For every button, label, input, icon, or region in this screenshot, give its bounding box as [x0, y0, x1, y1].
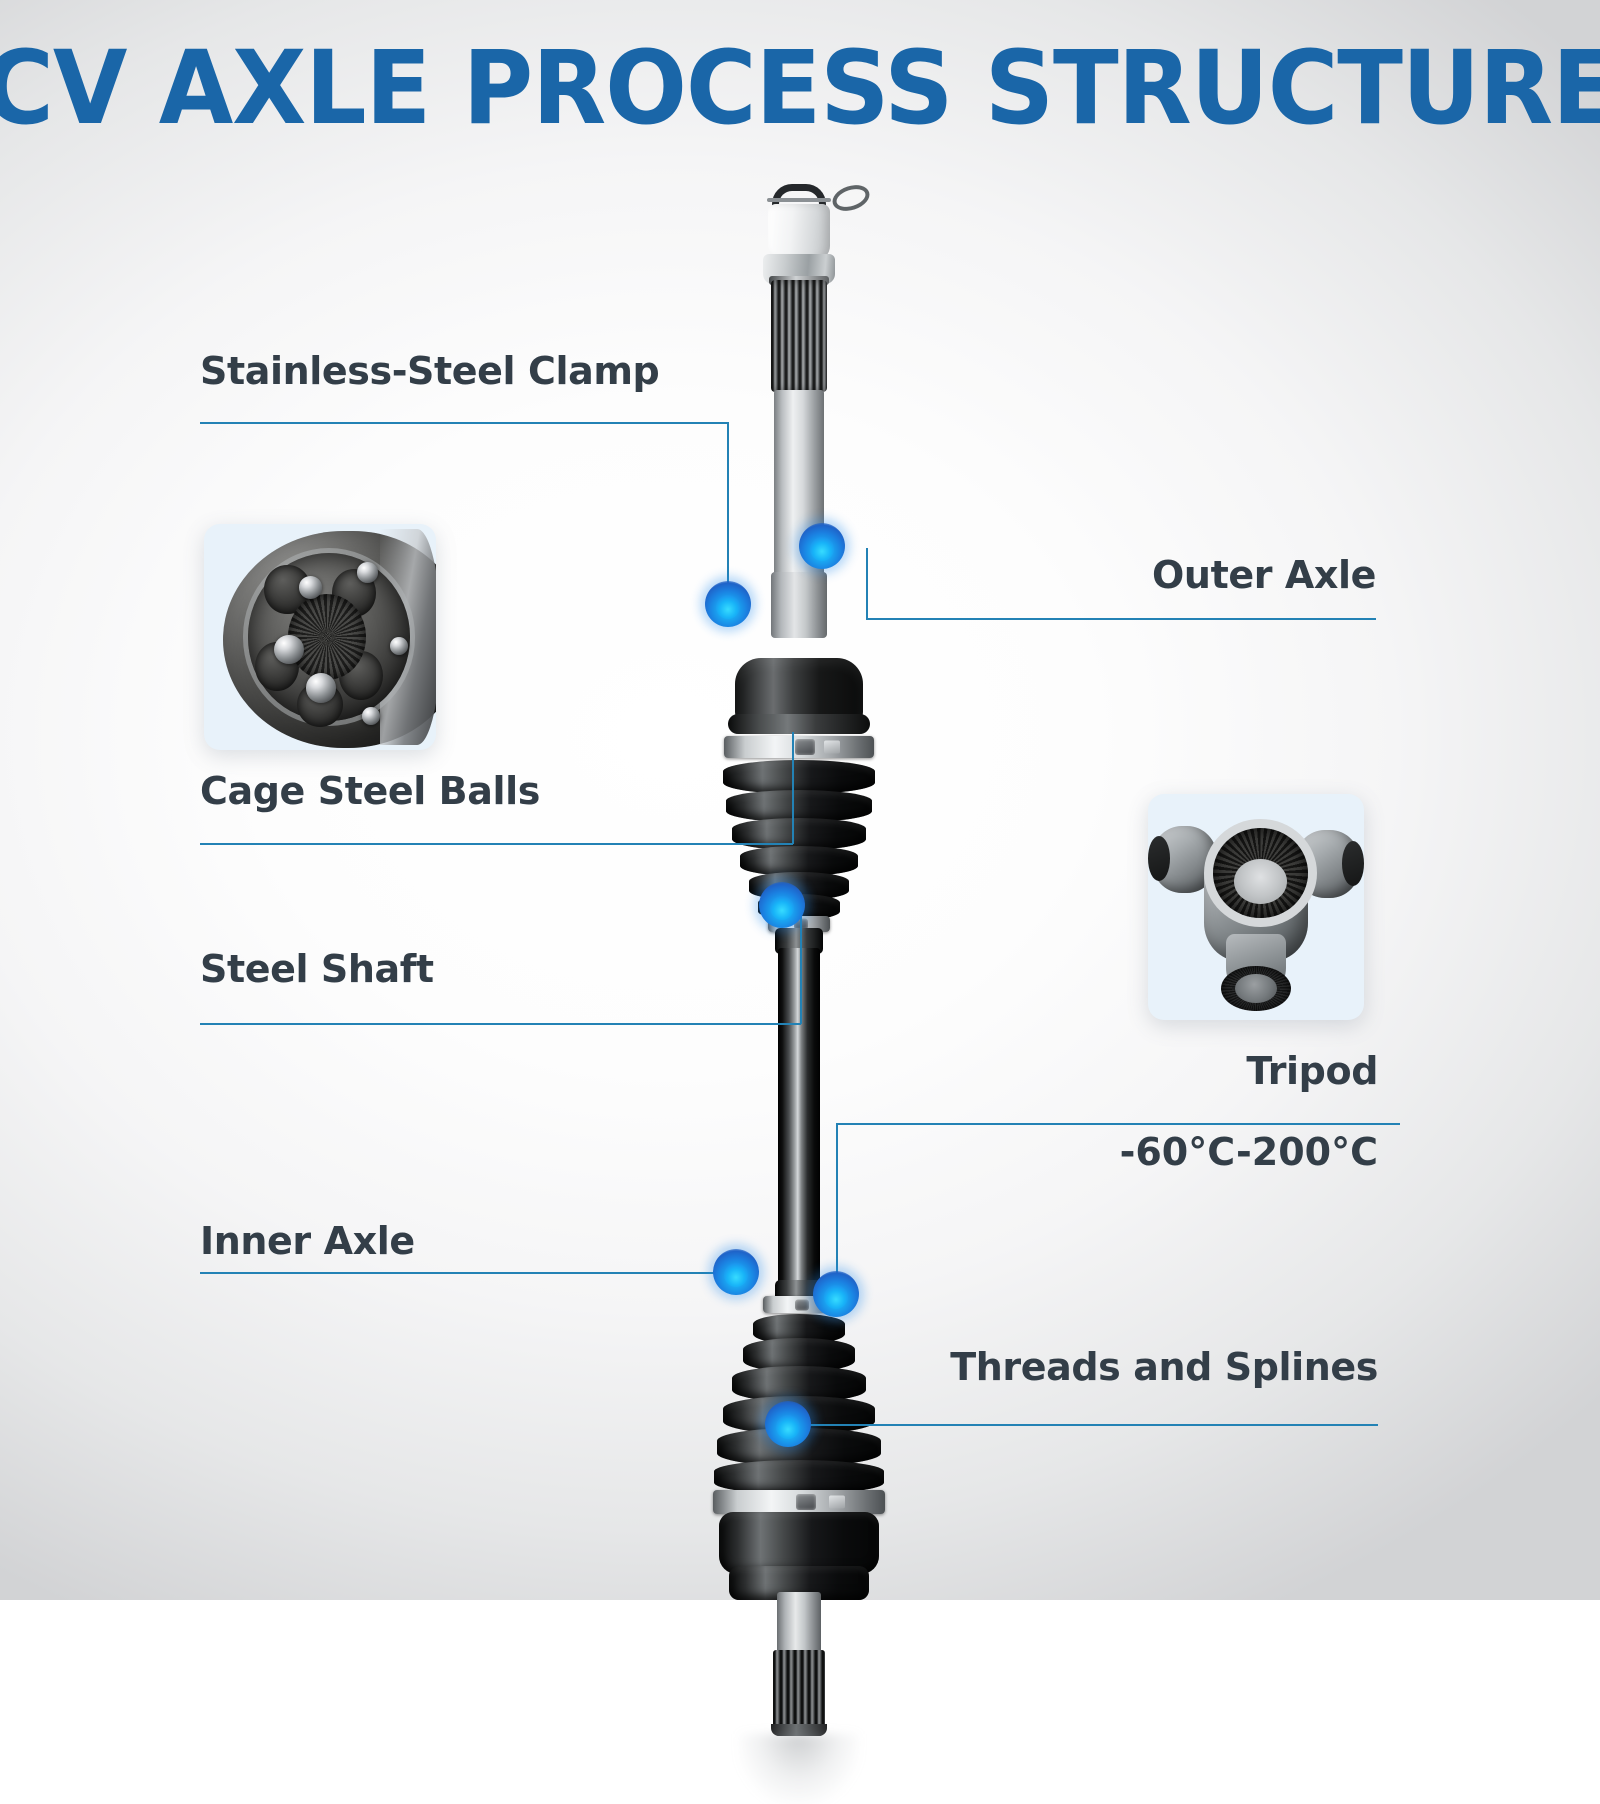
connector-line-inner-axle-h [200, 1272, 738, 1274]
page-title: CV AXLE PROCESS STRUCTURE [0, 30, 1600, 148]
connector-line-outer-axle-h [866, 618, 1376, 620]
connector-line-steel-shaft-h [200, 1023, 801, 1025]
steel-shaft-body [778, 948, 820, 1288]
connector-line-cage-steel-balls-v [792, 732, 794, 844]
cage-steel-ball [274, 635, 304, 664]
marker-stainless-steel-clamp[interactable] [705, 581, 751, 627]
cotter-pin-bar [767, 198, 831, 202]
infographic-canvas: CV AXLE PROCESS STRUCTURE [0, 0, 1600, 1600]
label-steel-shaft: Steel Shaft [200, 950, 434, 990]
tripod-roller-cap [1148, 836, 1170, 881]
clamp-buckle-icon [795, 1299, 809, 1310]
outer-splined-stub [771, 280, 827, 392]
connector-line-cage-steel-balls-h [200, 843, 793, 845]
tripod-roller-bottom [1221, 966, 1290, 1011]
connector-line-stainless-steel-clamp-v [727, 422, 729, 604]
tripod-roller-cap [1342, 841, 1364, 886]
clamp-buckle-icon [796, 1494, 816, 1510]
connector-line-tripod-v [836, 1123, 838, 1295]
label-tripod-temperature: -60°C-200°C [1120, 1130, 1378, 1174]
stainless-steel-clamp-inner-large [713, 1490, 885, 1514]
marker-tripod[interactable] [813, 1271, 859, 1317]
cage-splined-hub [288, 594, 367, 680]
label-outer-axle: Outer Axle [1152, 556, 1376, 596]
marker-threads-and-splines[interactable] [765, 1401, 811, 1447]
clamp-tab-icon [824, 741, 840, 754]
label-cage-steel-balls: Cage Steel Balls [200, 772, 540, 812]
clamp-tab-icon [829, 1496, 845, 1509]
inner-joint-housing [719, 1512, 879, 1574]
cv-joint-cage-photo [204, 524, 436, 750]
clamp-buckle-icon [795, 739, 815, 755]
label-tripod: Tripod [1246, 1052, 1378, 1092]
marker-steel-shaft[interactable] [759, 882, 805, 928]
cv-axle-assembly-image [714, 168, 884, 1568]
inner-boot-pleat [714, 1460, 884, 1494]
connector-line-outer-axle-v [866, 548, 868, 620]
cage-steel-ball [390, 637, 409, 655]
label-stainless-steel-clamp: Stainless-Steel Clamp [200, 352, 659, 392]
cage-steel-ball [299, 576, 322, 599]
cotter-pin-loop [829, 181, 873, 216]
connector-line-threads-and-splines-h [790, 1424, 1378, 1426]
tripod-splined-bore [1213, 828, 1308, 918]
connector-line-steel-shaft-v [800, 908, 802, 1024]
marker-inner-axle[interactable] [713, 1249, 759, 1295]
protective-cap [768, 204, 830, 260]
product-reflection [739, 1734, 859, 1804]
stainless-steel-clamp-outer-large [724, 736, 874, 758]
tripod-joint-photo [1148, 794, 1364, 1020]
outer-boot-lip [728, 714, 870, 734]
connector-line-stainless-steel-clamp-h [200, 422, 728, 424]
cage-steel-ball [306, 673, 336, 702]
label-threads-and-splines: Threads and Splines [950, 1348, 1378, 1388]
cage-steel-ball [357, 562, 378, 582]
connector-line-tripod-h [836, 1123, 1400, 1125]
label-inner-axle: Inner Axle [200, 1222, 415, 1262]
silver-shaft-step [771, 572, 827, 638]
outer-boot-pleat [723, 760, 875, 794]
marker-outer-axle[interactable] [799, 523, 845, 569]
